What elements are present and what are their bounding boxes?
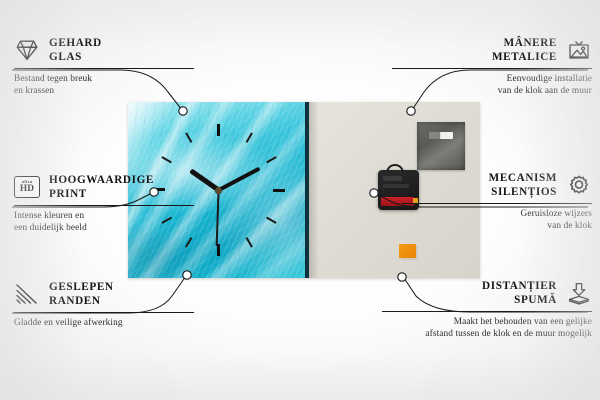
callout-title: GEHARD GLAS [49, 36, 102, 65]
callout-subtitle: Gladde en veilige afwerking [14, 317, 194, 329]
ultra-hd-badge-icon: ultra HD [14, 176, 40, 198]
callout-divider [14, 205, 194, 206]
callout-subtitle: Bestand tegen breuk en krassen [14, 73, 194, 98]
callout-metal-handles: MÂNERE METALICE Eenvoudige installatie v… [392, 36, 592, 98]
callout-header: GEHARD GLAS [14, 36, 194, 65]
callout-subtitle: Geruisloze wijzers van de klok [402, 208, 592, 233]
callout-title: GESLEPEN RANDEN [49, 280, 114, 309]
hanging-frame-icon [566, 38, 592, 62]
callout-header: DISTANȚIER SPUMĂ [382, 279, 592, 308]
callout-subtitle: Eenvoudige installatie van de klok aan d… [392, 73, 592, 98]
callout-foam-spacer: DISTANȚIER SPUMĂ Maakt het behouden van … [382, 279, 592, 341]
callout-title: MECANISM SILENȚIOS [489, 171, 557, 200]
leader-dot-handles [407, 107, 415, 115]
callout-title: DISTANȚIER SPUMĂ [482, 279, 557, 308]
callout-header: GESLEPEN RANDEN [14, 280, 194, 309]
callout-subtitle: Intense kleuren en een duidelijk beeld [14, 210, 194, 235]
leader-dot-edges [183, 271, 191, 279]
callout-divider [402, 203, 592, 204]
beveled-edge-icon [14, 282, 40, 306]
leader-dot-glass [179, 107, 187, 115]
callout-divider [14, 68, 194, 69]
callout-title: MÂNERE METALICE [492, 36, 557, 65]
diamond-icon [14, 38, 40, 62]
callout-silent-mechanism: MECANISM SILENȚIOS Geruisloze wijzers va… [402, 171, 592, 233]
callout-polished-edges: GESLEPEN RANDEN Gladde en veilige afwerk… [14, 280, 194, 329]
down-arrow-stack-icon [566, 281, 592, 305]
callout-title: HOOGWAARDIGE PRINT [49, 173, 154, 202]
callout-header: ultra HD HOOGWAARDIGE PRINT [14, 173, 194, 202]
callout-divider [382, 311, 592, 312]
callout-divider [392, 68, 592, 69]
callout-tempered-glass: GEHARD GLAS Bestand tegen breuk en krass… [14, 36, 194, 98]
callout-high-quality-print: ultra HD HOOGWAARDIGE PRINT Intense kleu… [14, 173, 194, 235]
badge-hd-label: HD [20, 185, 34, 194]
callout-divider [14, 312, 194, 313]
callout-header: MECANISM SILENȚIOS [402, 171, 592, 200]
leader-dot-mechanism [370, 189, 378, 197]
callout-header: MÂNERE METALICE [392, 36, 592, 65]
callout-subtitle: Maakt het behouden van een gelijke afsta… [382, 316, 592, 341]
gear-icon [566, 173, 592, 197]
product-feature-infographic: GEHARD GLAS Bestand tegen breuk en krass… [0, 0, 600, 400]
